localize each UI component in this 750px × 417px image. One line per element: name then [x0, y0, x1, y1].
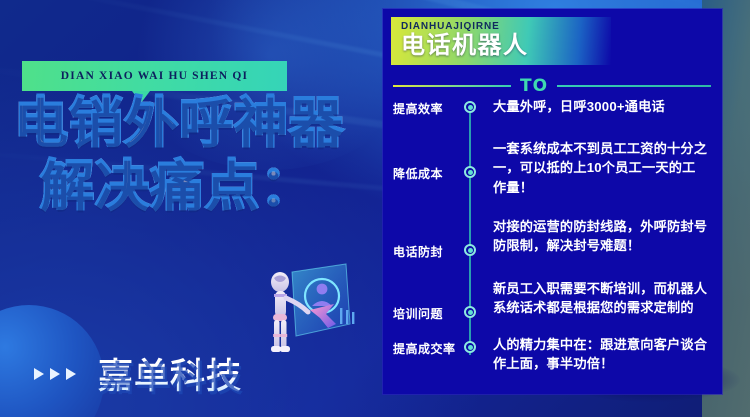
feature-label: 降低成本: [393, 165, 465, 182]
timeline-dot-icon: [464, 306, 476, 318]
screen-panel: [292, 264, 350, 336]
section-divider: TO: [393, 77, 711, 95]
timeline-dot-icon: [464, 341, 476, 353]
feature-text: 对接的运营的防封线路，外呼防封号防限制，解决封号难题！: [493, 217, 708, 256]
divider-line-right: [557, 85, 711, 87]
timeline-dot-icon: [464, 166, 476, 178]
feature-panel: DIANHUAJIQIRNE 电话机器人 TO 提高效率 大量外呼，日呼3000…: [383, 9, 722, 394]
pinyin-tag: DIAN XIAO WAI HU SHEN QI: [22, 61, 287, 91]
brand-name: 嘉单科技: [98, 348, 242, 399]
feature-label: 提高成交率: [393, 340, 465, 357]
feature-label: 培训问题: [393, 305, 465, 322]
feature-text: 大量外呼，日呼3000+通电话: [493, 97, 708, 116]
headline-line-1: 电销外呼神器: [14, 95, 374, 150]
feature-text: 一套系统成本不到员工工资的十分之一，可以抵的上10个员工一天的工作量！: [493, 139, 708, 197]
panel-header: DIANHUAJIQIRNE 电话机器人: [391, 17, 611, 65]
feature-text: 新员工入职需要不断培训，而机器人系统话术都是根据您的需求定制的: [493, 279, 708, 318]
brand-lockup: 嘉单科技: [34, 348, 242, 399]
feature-text: 人的精力集中在：跟进意向客户谈合作上面，事半功倍！: [493, 335, 708, 374]
pinyin-tag-label: DIAN XIAO WAI HU SHEN QI: [61, 70, 248, 82]
panel-header-pinyin: DIANHUAJIQIRNE: [401, 21, 611, 32]
timeline-dot-icon: [464, 244, 476, 256]
poster-canvas: DIAN XIAO WAI HU SHEN QI 电销外呼神器 解决痛点：: [0, 0, 750, 417]
triangle-right-icon: [34, 368, 76, 380]
feature-list: 提高效率 大量外呼，日呼3000+通电话 降低成本 一套系统成本不到员工工资的十…: [383, 97, 722, 377]
panel-header-title: 电话机器人: [401, 33, 611, 58]
robot-illustration: [236, 244, 380, 386]
divider-line-left: [393, 85, 511, 87]
feature-label: 提高效率: [393, 100, 465, 117]
headline-line-2: 解决痛点：: [40, 158, 374, 213]
feature-label: 电话防封: [393, 243, 465, 260]
left-content-block: DIAN XIAO WAI HU SHEN QI 电销外呼神器 解决痛点：: [0, 0, 382, 417]
divider-label: TO: [511, 76, 557, 96]
timeline-dot-icon: [464, 101, 476, 113]
headline-group: 电销外呼神器 解决痛点：: [14, 95, 374, 213]
